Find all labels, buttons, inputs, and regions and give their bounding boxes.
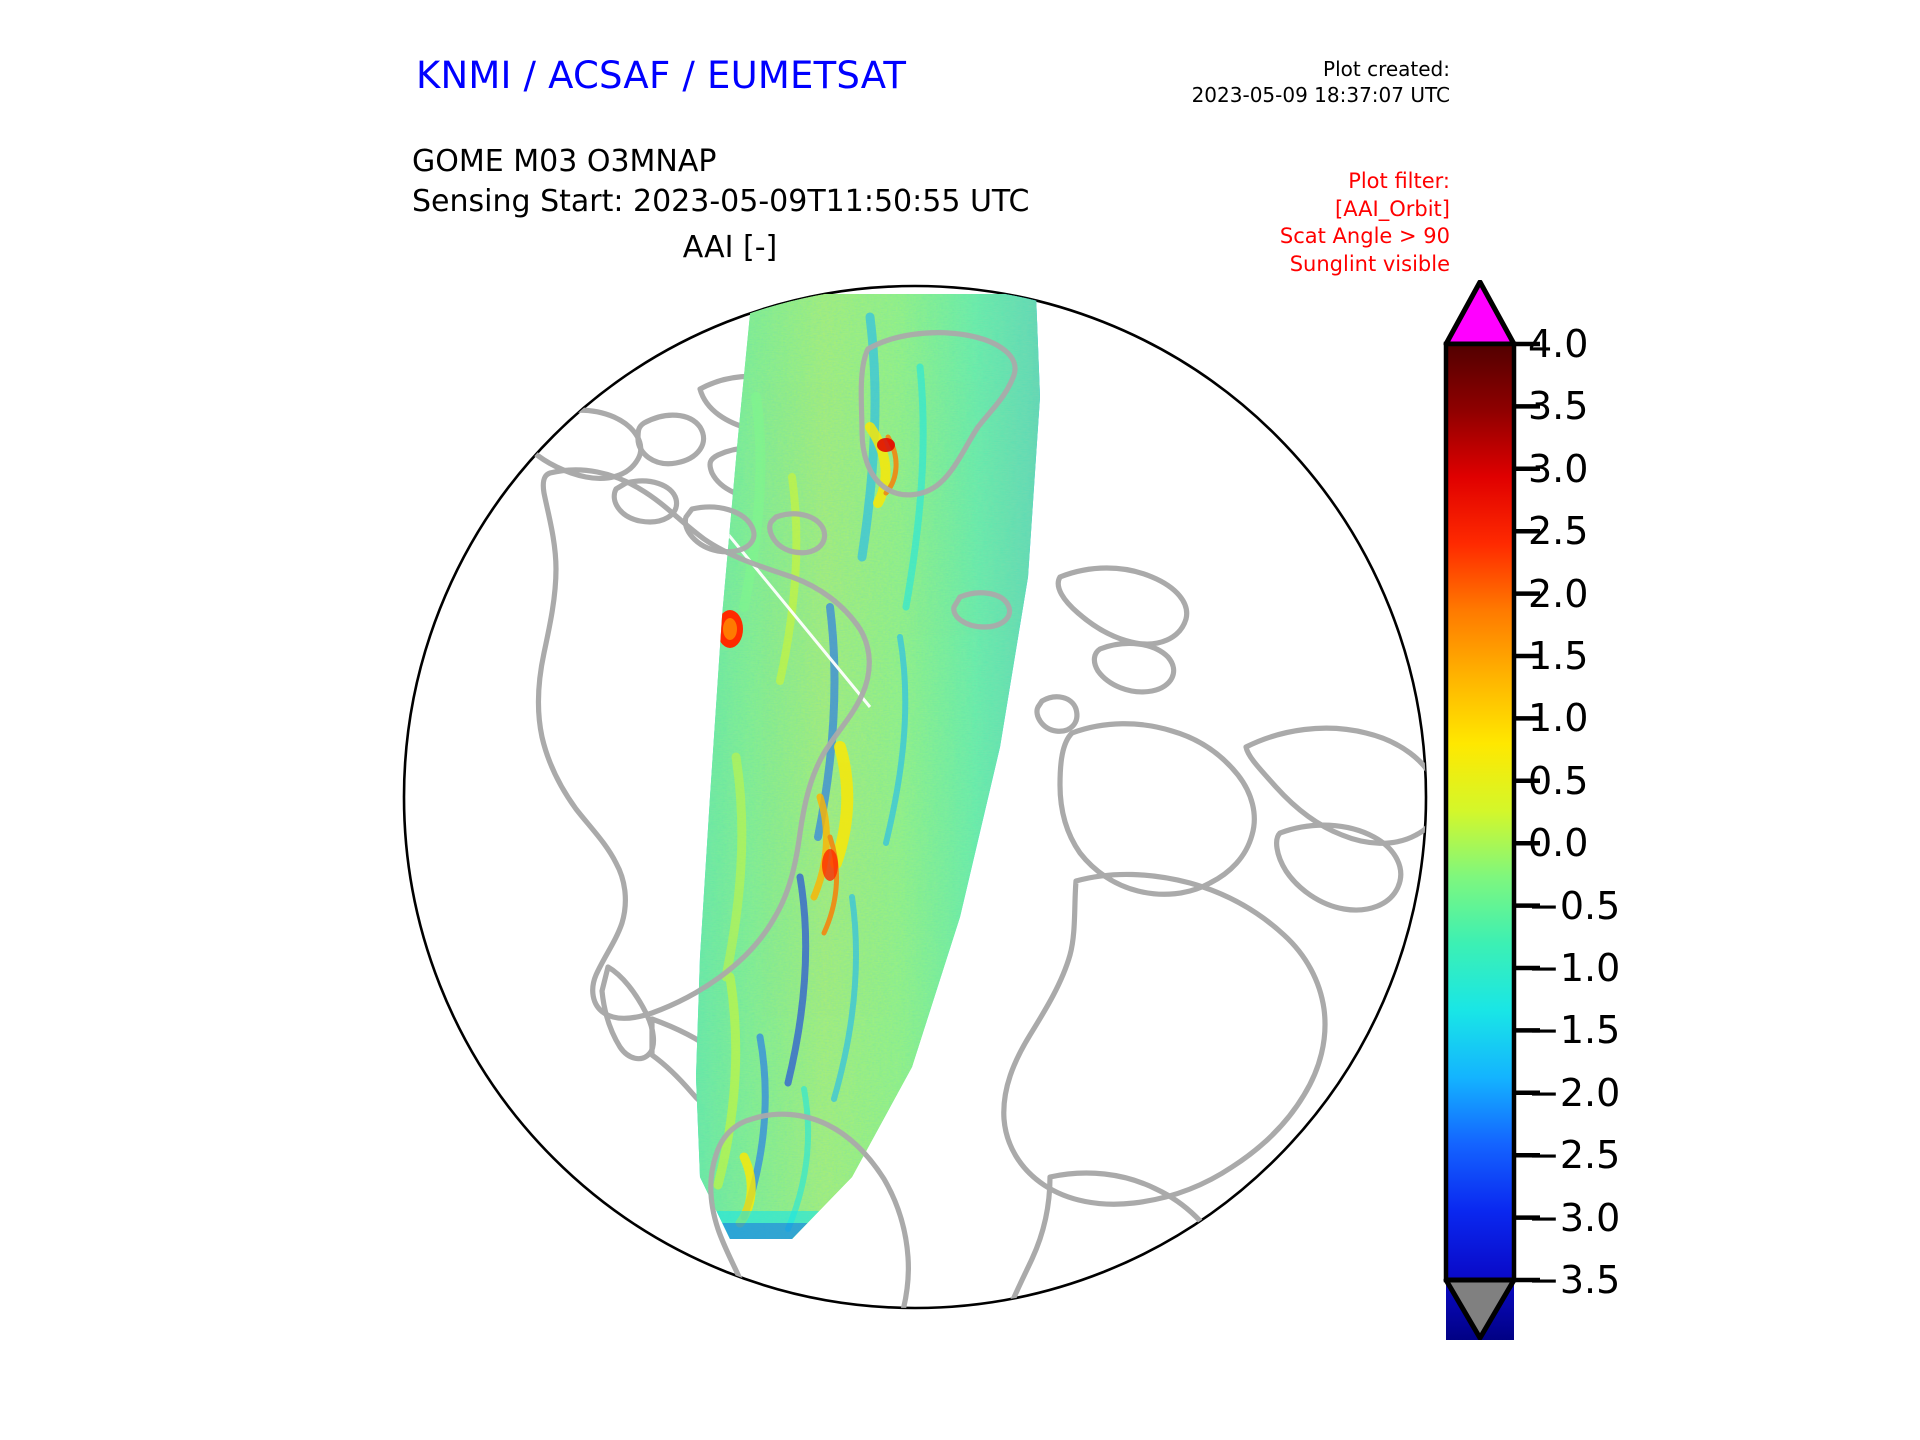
colorbar-tick-label-1-5: 1.5	[1528, 634, 1588, 678]
colorbar-tick-label-0-0: 0.0	[1528, 821, 1588, 865]
colorbar-tick-label-1-0: 1.0	[1528, 696, 1588, 740]
colorbar-over-arrow	[1446, 282, 1514, 344]
plot-filter-line-1: [AAI_Orbit]	[1040, 196, 1450, 224]
colorbar-tick-label-3-0: 3.0	[1528, 447, 1588, 491]
colorbar-tick-label-neg-2-5: −2.5	[1528, 1133, 1620, 1177]
globe-map	[400, 277, 1430, 1317]
instrument-product-line: GOME M03 O3MNAP	[412, 142, 1029, 182]
colorbar-tick-label-2-0: 2.0	[1528, 572, 1588, 616]
plot-created-timestamp: 2023-05-09 18:37:07 UTC	[1030, 82, 1450, 108]
colorbar	[1432, 280, 1542, 1340]
colorbar-tick-label-neg-1-5: −1.5	[1528, 1008, 1620, 1052]
plot-created-block: Plot created: 2023-05-09 18:37:07 UTC	[1030, 56, 1450, 108]
plot-filter-block: Plot filter: [AAI_Orbit] Scat Angle > 90…	[1040, 168, 1450, 278]
colorbar-tick-label-neg-3-0: −3.0	[1528, 1196, 1620, 1240]
colorbar-tick-label-neg-3-5: −3.5	[1528, 1258, 1620, 1302]
colorbar-tick-label-neg-1-0: −1.0	[1528, 946, 1620, 990]
colorbar-tick-label-0-5: 0.5	[1528, 759, 1588, 803]
plot-filter-label: Plot filter:	[1040, 168, 1450, 196]
colorbar-tick-label-3-5: 3.5	[1528, 384, 1588, 428]
dataset-block: GOME M03 O3MNAP Sensing Start: 2023-05-0…	[412, 142, 1029, 222]
plot-filter-line-3: Sunglint visible	[1040, 251, 1450, 279]
map-panel	[400, 277, 1430, 1317]
colorbar-tick-label-neg-2-0: −2.0	[1528, 1071, 1620, 1115]
plot-filter-line-2: Scat Angle > 90	[1040, 223, 1450, 251]
agency-header: KNMI / ACSAF / EUMETSAT	[416, 54, 906, 97]
colorbar-tick-label-2-5: 2.5	[1528, 509, 1588, 553]
sensing-start-line: Sensing Start: 2023-05-09T11:50:55 UTC	[412, 182, 1029, 222]
colorbar-gradient	[1446, 344, 1514, 1340]
colorbar-tick-label-neg-0-5: −0.5	[1528, 884, 1620, 928]
colorbar-tick-label-4-0: 4.0	[1528, 322, 1588, 366]
colorbar-panel: 4.0 3.5 3.0 2.5 2.0 1.5 1.0 0.5 0.0 −0.5…	[1432, 280, 1852, 1340]
plot-created-label: Plot created:	[1030, 56, 1450, 82]
